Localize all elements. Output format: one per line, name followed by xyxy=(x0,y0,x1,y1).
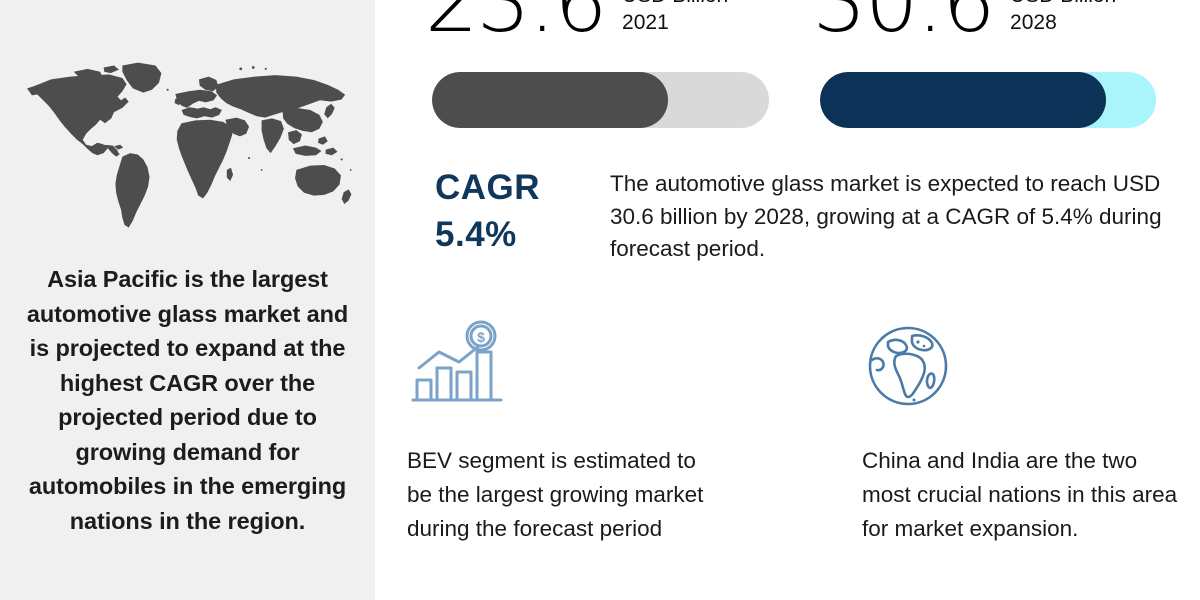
cagr-badge: CAGR 5.4% xyxy=(435,165,585,259)
feature-bev-text: BEV segment is estimated to be the large… xyxy=(407,444,727,546)
world-map-icon xyxy=(18,42,366,242)
stat-unit-2028: USD Billion xyxy=(1010,0,1116,9)
cagr-description: The automotive glass market is expected … xyxy=(610,168,1200,266)
feature-china-india: China and India are the two most crucial… xyxy=(862,320,1192,546)
progress-bars xyxy=(375,72,1200,130)
progress-bar-fill-2021 xyxy=(432,72,668,128)
bar-chart-dollar-icon: $ xyxy=(407,320,507,412)
svg-text:$: $ xyxy=(477,329,485,345)
feature-china-india-text: China and India are the two most crucial… xyxy=(862,444,1182,546)
features-row: $ BEV segment is estimated to be the lar… xyxy=(375,320,1200,600)
stat-value-2028: 30.6 xyxy=(813,0,994,50)
progress-bar-2028 xyxy=(820,72,1156,128)
stat-meta-2021: USD Billion 2021 xyxy=(622,0,728,50)
content-panel: 23.6 USD Billion 2021 30.6 USD Billion 2… xyxy=(375,0,1200,600)
progress-bar-fill-2028 xyxy=(820,72,1106,128)
stat-year-2028: 2028 xyxy=(1010,9,1116,36)
stat-value-2021: 23.6 xyxy=(425,0,606,50)
sidebar-panel: Asia Pacific is the largest automotive g… xyxy=(0,0,375,600)
stat-meta-2028: USD Billion 2028 xyxy=(1010,0,1116,50)
cagr-value: 5.4% xyxy=(435,211,585,259)
stat-year-2021: 2021 xyxy=(622,9,728,36)
stat-unit-2021: USD Billion xyxy=(622,0,728,9)
stat-row: 23.6 USD Billion 2021 30.6 USD Billion 2… xyxy=(375,0,1200,54)
infographic-root: Asia Pacific is the largest automotive g… xyxy=(0,0,1200,600)
stat-block-2021: 23.6 USD Billion 2021 xyxy=(425,0,728,50)
cagr-section: CAGR 5.4% The automotive glass market is… xyxy=(375,160,1200,280)
globe-icon xyxy=(862,320,962,412)
stat-block-2028: 30.6 USD Billion 2028 xyxy=(813,0,1116,50)
sidebar-caption: Asia Pacific is the largest automotive g… xyxy=(16,262,359,538)
cagr-label: CAGR xyxy=(435,165,585,211)
progress-bar-2021 xyxy=(432,72,769,128)
feature-bev: $ BEV segment is estimated to be the lar… xyxy=(407,320,737,546)
